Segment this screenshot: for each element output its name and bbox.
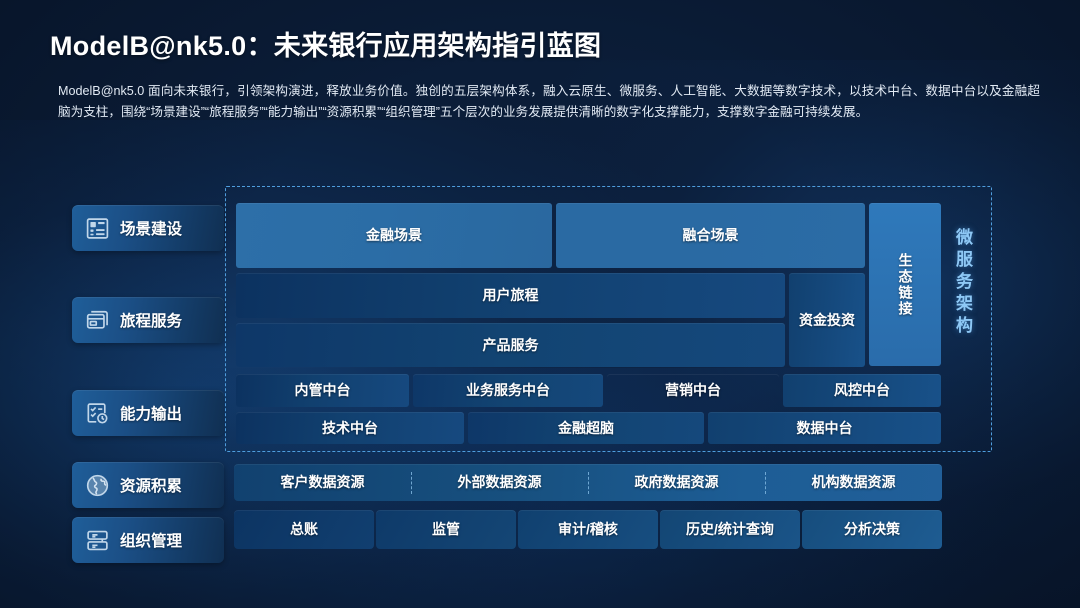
cell-label: 营销中台 [665,381,721,400]
cell-label: 风控中台 [834,381,890,400]
journey-cell-product-service[interactable]: 产品服务 [236,323,785,367]
organization-cell-general-ledger[interactable]: 总账 [234,510,374,549]
cell-label: 金融场景 [366,226,422,245]
cell-label: 产品服务 [483,336,539,355]
microservice-architecture-label: 微服务架构 [950,228,975,338]
funding-investment-cell[interactable]: 资金投资 [789,273,865,367]
page-title: ModelB@nk5.0：未来银行应用架构指引蓝图 [50,24,1040,63]
sidebar-item-label: 场景建设 [120,217,182,239]
capability-cell-business-service[interactable]: 业务服务中台 [413,374,603,407]
sidebar-item-label: 能力输出 [120,402,182,424]
organization-cell-history-query[interactable]: 历史/统计查询 [660,510,800,549]
cell-label: 融合场景 [683,226,739,245]
sidebar-item-label: 旅程服务 [120,309,182,331]
cell-label: 数据中台 [797,419,853,438]
cell-label: 业务服务中台 [466,381,550,400]
slide-header: ModelB@nk5.0：未来银行应用架构指引蓝图 ModelB@nk5.0 面… [50,24,1040,123]
cell-label: 机构数据资源 [812,473,896,492]
sidebar-item-scene-building[interactable]: 场景建设 [72,205,224,251]
card-stack-icon [85,308,110,333]
layout-grid-icon [85,216,110,241]
organization-cell-analysis-decision[interactable]: 分析决策 [802,510,942,549]
cell-label: 技术中台 [322,419,378,438]
cell-label: 生态链接 [896,253,915,317]
sidebar-item-label: 组织管理 [120,529,182,551]
cell-label: 用户旅程 [483,286,539,305]
resource-cell-government-data[interactable]: 政府数据资源 [588,464,765,501]
sidebar-item-label: 资源积累 [120,474,182,496]
resource-cell-customer-data[interactable]: 客户数据资源 [234,464,411,501]
cell-label: 客户数据资源 [281,473,365,492]
capability-cell-technology-platform[interactable]: 技术中台 [236,412,464,444]
page-description: ModelB@nk5.0 面向未来银行，引领架构演进，释放业务价值。独创的五层架… [58,81,1040,123]
capability-cell-data-platform[interactable]: 数据中台 [708,412,941,444]
organization-cell-regulation[interactable]: 监管 [376,510,516,549]
cell-label: 监管 [432,520,460,539]
cell-label: 历史/统计查询 [686,520,774,539]
journey-cell-user-journey[interactable]: 用户旅程 [236,273,785,318]
cell-label: 审计/稽核 [558,520,618,539]
cell-label: 金融超脑 [558,419,614,438]
sidebar-item-journey-service[interactable]: 旅程服务 [72,297,224,343]
sidebar-item-organization-management[interactable]: 组织管理 [72,517,224,563]
organization-cell-audit[interactable]: 审计/稽核 [518,510,658,549]
cell-label: 资金投资 [799,311,855,329]
checklist-clock-icon [85,401,110,426]
capability-cell-risk-control[interactable]: 风控中台 [783,374,941,407]
cell-label: 政府数据资源 [635,473,719,492]
capability-cell-internal-management[interactable]: 内管中台 [236,374,409,407]
org-chart-icon [85,528,110,553]
ecosystem-link-cell[interactable]: 生态链接 [869,203,941,366]
resource-cell-institutional-data[interactable]: 机构数据资源 [765,464,942,501]
cell-label: 分析决策 [844,520,900,539]
scene-cell-financial[interactable]: 金融场景 [236,203,552,268]
cell-label: 总账 [290,520,318,539]
cell-label: 内管中台 [295,381,351,400]
sidebar-item-capability-output[interactable]: 能力输出 [72,390,224,436]
capability-cell-marketing[interactable]: 营销中台 [607,374,779,407]
sidebar-item-resource-accumulation[interactable]: 资源积累 [72,462,224,508]
globe-icon [85,473,110,498]
scene-cell-integrated[interactable]: 融合场景 [556,203,865,268]
capability-cell-financial-brain[interactable]: 金融超脑 [468,412,704,444]
resource-cell-external-data[interactable]: 外部数据资源 [411,464,588,501]
cell-label: 外部数据资源 [458,473,542,492]
